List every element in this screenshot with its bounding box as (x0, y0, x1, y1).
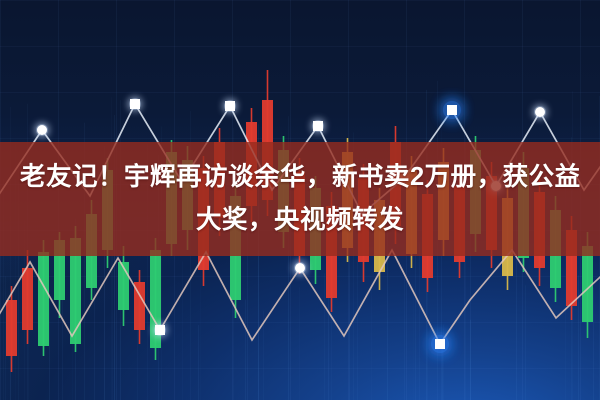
zigzag-marker (313, 121, 323, 131)
zigzag-marker (295, 263, 305, 273)
zigzag-marker (535, 107, 545, 117)
banner-image: 老友记！宇辉再访谈余华，新书卖2万册，获公益 大奖，央视频转发 (0, 0, 600, 400)
zigzag-marker (37, 125, 47, 135)
candle (38, 240, 49, 356)
candle (150, 238, 161, 360)
headline-line-1: 老友记！宇辉再访谈余华，新书卖2万册，获公益 (20, 156, 580, 199)
zigzag-marker (447, 105, 457, 115)
zigzag-marker (155, 325, 165, 335)
zigzag-marker (225, 101, 235, 111)
candle (118, 246, 129, 326)
headline-band: 老友记！宇辉再访谈余华，新书卖2万册，获公益 大奖，央视频转发 (0, 142, 600, 256)
zigzag-marker (130, 99, 140, 109)
candle (134, 270, 145, 344)
headline-line-2: 大奖，央视频转发 (20, 199, 580, 242)
zigzag-marker (435, 339, 445, 349)
